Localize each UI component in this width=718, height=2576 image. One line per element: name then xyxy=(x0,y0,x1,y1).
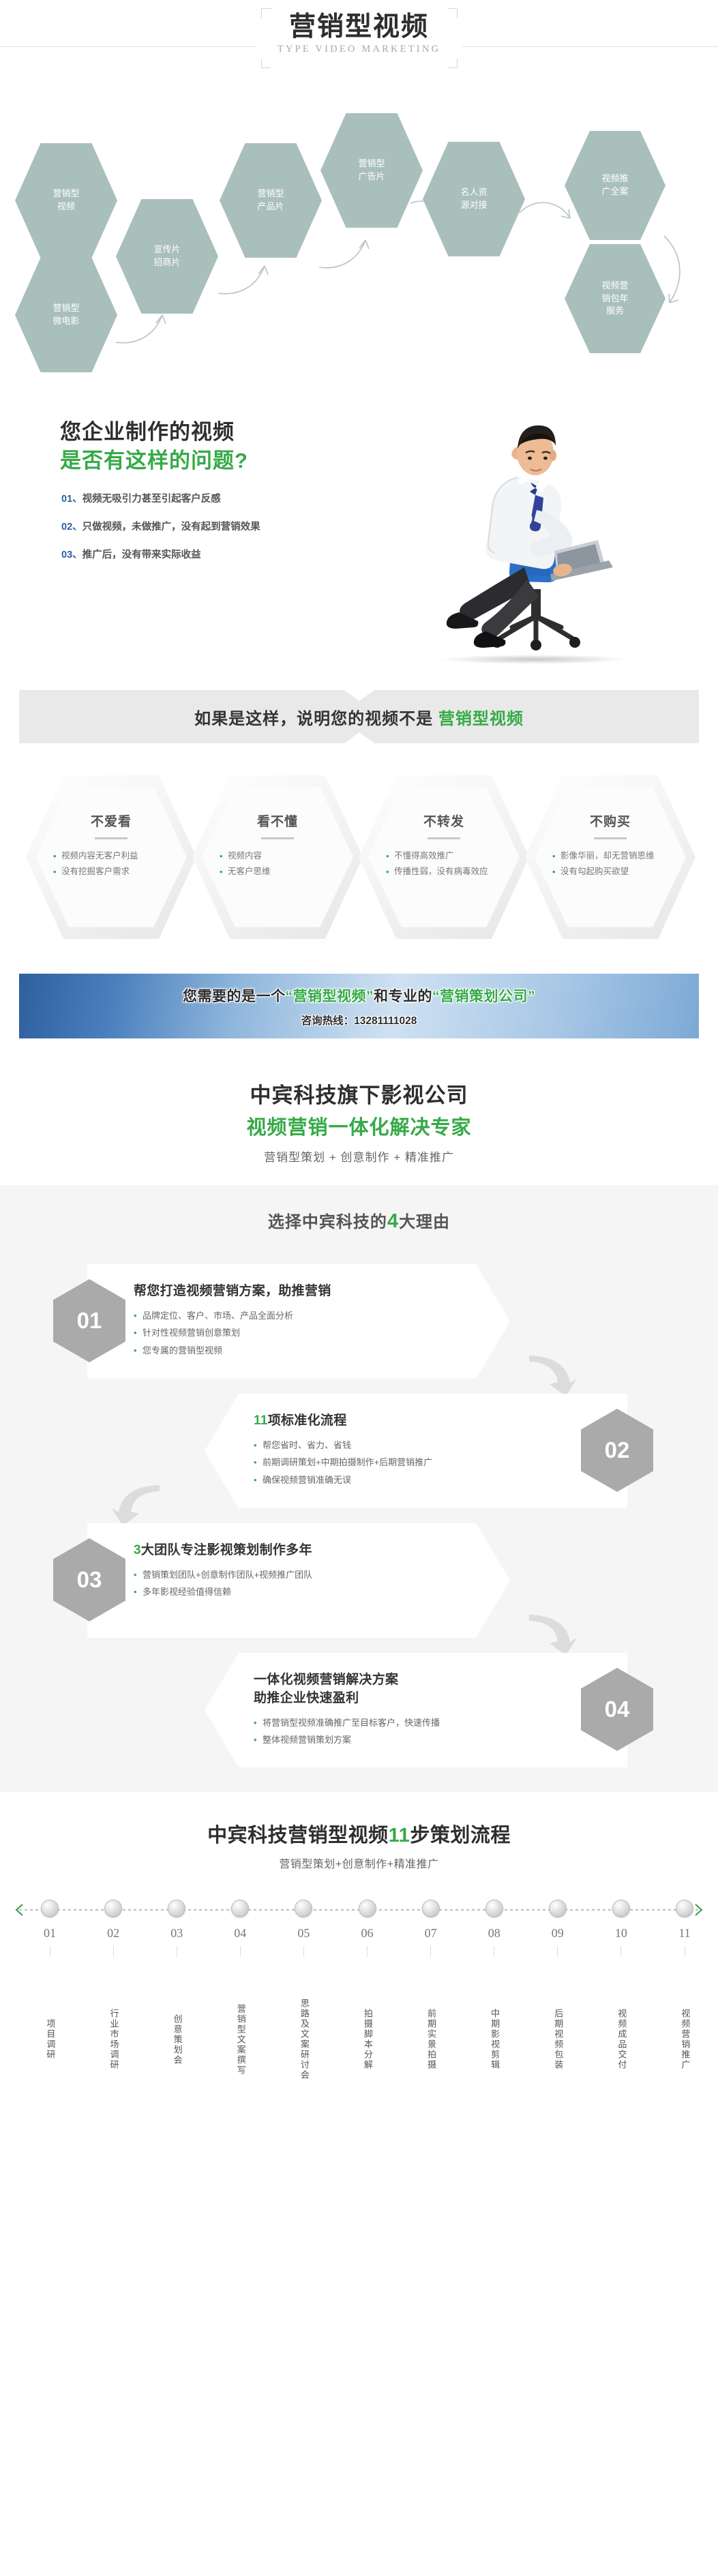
flow-step-tick xyxy=(303,1946,304,1957)
problem-title-line1: 您企业制作的视频 xyxy=(60,415,235,445)
service-hex-3[interactable]: 宣传片 招商片 xyxy=(116,199,218,314)
problem-item-text: 视频无吸引力甚至引起客户反感 xyxy=(83,494,221,505)
service-hex-5[interactable]: 营销型 广告片 xyxy=(320,113,423,228)
reason-content-04: 一体化视频营销解决方案 助推企业快速盈利将营销型视频准确推广至目标客户，快速传播… xyxy=(254,1669,540,1749)
flow-step-node xyxy=(549,1900,567,1917)
flow-step-11[interactable]: 11视频营销推广 xyxy=(658,1894,711,2118)
flow-step-number: 03 xyxy=(150,1926,203,1941)
problem-card-point: 视频内容 xyxy=(220,848,363,864)
problem-card-divider xyxy=(261,837,294,839)
reason-title: 一体化视频营销解决方案 助推企业快速盈利 xyxy=(254,1669,540,1706)
flow-step-number: 08 xyxy=(468,1926,521,1941)
reasons-list: 01帮您打造视频营销方案，助推营销品牌定位、客户、市场、产品全面分析针对性视频营… xyxy=(0,1256,718,1761)
problem-card-divider xyxy=(428,837,460,839)
verdict-band-section: 如果是这样，说明您的视频不是 营销型视频 xyxy=(0,675,718,762)
reason-point: 将营销型视频准确推广至目标客户，快速传播 xyxy=(254,1714,540,1731)
reason-title-text: 大团队专注影视策划制作多年 xyxy=(141,1543,312,1557)
flow-heading: 中宾科技营销型视频11步策划流程 xyxy=(0,1819,718,1848)
verdict-prefix: 如果是这样，说明您的视频不是 xyxy=(194,710,438,728)
reason-points: 品牌定位、客户、市场、产品全面分析针对性视频营销创意策划您专属的营销型视频 xyxy=(134,1307,420,1359)
flow-step-number: 02 xyxy=(87,1926,140,1941)
reason-title-text: 一体化视频营销解决方案 助推企业快速盈利 xyxy=(254,1673,398,1705)
reason-title: 帮您打造视频营销方案，助推营销 xyxy=(134,1280,420,1299)
problem-card-body: 不爱看视频内容无客户利益没有挖掘客户需求 xyxy=(26,772,196,942)
problem-card-1[interactable]: 不爱看视频内容无客户利益没有挖掘客户需求 xyxy=(26,772,196,942)
service-hex-label: 营销型 视频 xyxy=(53,188,79,213)
service-hex-label: 营销型 广告片 xyxy=(358,158,385,183)
flow-step-label: 中期影视剪辑 xyxy=(488,1961,500,2118)
cta-headline: 您需要的是一个“营销型视频”和专业的“营销策划公司” xyxy=(183,985,535,1006)
service-hex-cluster: 营销型 视频营销型 微电影宣传片 招商片营销型 产品片营销型 广告片名人资 源对… xyxy=(0,102,718,389)
reason-number: 03 xyxy=(77,1567,102,1593)
problem-card-title: 不购买 xyxy=(525,811,695,830)
cta-part1: 您需要的是一个 xyxy=(183,989,286,1004)
flow-step-tick xyxy=(367,1946,368,1957)
reasons-heading-prefix: 选择中宾科技的 xyxy=(268,1213,387,1231)
flow-step-tick xyxy=(685,1946,685,1957)
reason-content-01: 帮您打造视频营销方案，助推营销品牌定位、客户、市场、产品全面分析针对性视频营销创… xyxy=(134,1280,420,1359)
verdict-highlight: 营销型视频 xyxy=(438,710,524,728)
problem-card-4[interactable]: 不购买影像华丽，却无营销思维没有勾起购买欲望 xyxy=(525,772,695,942)
service-hex-label: 视频推 广全案 xyxy=(601,173,628,198)
problem-list: 01、视频无吸引力甚至引起客户反感02、只做视频，未做推广，没有起到营销效果03… xyxy=(61,491,260,575)
problem-card-body: 看不懂视频内容无客户思维 xyxy=(192,772,363,942)
flow-step-node xyxy=(41,1900,59,1917)
reasons-section: 选择中宾科技的4大理由 01帮您打造视频营销方案，助推营销品牌定位、客户、市场、… xyxy=(0,1185,718,1792)
reason-points: 将营销型视频准确推广至目标客户，快速传播整体视频营销策划方案 xyxy=(254,1714,540,1749)
flow-step-number: 07 xyxy=(404,1926,458,1941)
service-hex-label: 营销型 产品片 xyxy=(257,188,284,213)
flow-arrow-2 xyxy=(217,258,278,299)
problem-card-divider xyxy=(594,837,627,839)
flow-arrow-5 xyxy=(518,198,580,235)
reason-row-04: 04一体化视频营销解决方案 助推企业快速盈利将营销型视频准确推广至目标客户，快速… xyxy=(0,1645,718,1774)
verdict-text: 如果是这样，说明您的视频不是 营销型视频 xyxy=(194,705,524,729)
flow-step-label: 视频营销推广 xyxy=(678,1961,691,2118)
cta-section: 您需要的是一个“营销型视频”和专业的“营销策划公司” 咨询热线：13281111… xyxy=(0,967,718,1055)
flow-step-07[interactable]: 07前期实景拍摄 xyxy=(404,1894,458,2118)
problem-item-3: 03、推广后，没有带来实际收益 xyxy=(61,547,260,561)
reason-point: 您专属的营销型视频 xyxy=(134,1342,420,1359)
reason-title-number: 11 xyxy=(254,1413,268,1428)
reason-points: 帮您省时、省力、省钱前期调研策划+中期拍摄制作+后期营销推广确保视频营销准确无误 xyxy=(254,1437,540,1488)
flow-heading-number: 11 xyxy=(389,1825,410,1846)
service-hex-label: 视频营 销包年 服务 xyxy=(601,280,628,318)
cta-quote2: “营销策划公司” xyxy=(432,989,535,1004)
flow-arrow-6 xyxy=(660,232,701,314)
problem-card-body: 不转发不懂得高效推广传播性弱，没有病毒效应 xyxy=(359,772,529,942)
header-title-frame: 营销型视频 TYPE VIDEO MARKETING xyxy=(257,7,462,75)
reason-point: 多年影视经验值得信赖 xyxy=(134,1583,420,1600)
flow-step-tick xyxy=(557,1946,558,1957)
flow-step-label: 思路及文案研讨会 xyxy=(297,1961,310,2118)
problem-item-text: 只做视频，未做推广，没有起到营销效果 xyxy=(83,522,260,533)
flow-track: 01项目调研02行业市场调研03创意策划会04营销型文案撰写05思路及文案研讨会… xyxy=(15,1894,703,2187)
service-hex-label: 名人资 源对接 xyxy=(460,186,487,212)
flow-step-number: 01 xyxy=(23,1926,76,1941)
reason-title-text: 项标准化流程 xyxy=(268,1413,347,1428)
reason-point: 确保视频营销准确无误 xyxy=(254,1471,540,1488)
flow-step-09[interactable]: 09后期视频包装 xyxy=(531,1894,584,2118)
cta-part2: 和专业的 xyxy=(374,989,432,1004)
flow-step-label: 行业市场调研 xyxy=(107,1961,120,2118)
reason-point: 帮您省时、省力、省钱 xyxy=(254,1437,540,1454)
company-name: 中宾科技旗下影视公司 xyxy=(0,1078,718,1109)
flow-step-tick xyxy=(430,1946,431,1957)
flow-step-label: 项目调研 xyxy=(44,1961,57,2118)
problem-title-line2: 是否有这样的问题? xyxy=(60,443,248,474)
flow-step-label: 营销型文案撰写 xyxy=(234,1961,247,2118)
problem-card-point: 不懂得高效推广 xyxy=(386,848,529,864)
flow-step-01[interactable]: 01项目调研 xyxy=(23,1894,76,2118)
problem-item-2: 02、只做视频，未做推广，没有起到营销效果 xyxy=(61,519,260,533)
flow-subheading: 营销型策划+创意制作+精准推广 xyxy=(0,1855,718,1871)
problem-item-number: 03、 xyxy=(61,550,83,560)
cta-hotline[interactable]: 咨询热线：13281111028 xyxy=(301,1013,417,1028)
flow-step-02[interactable]: 02行业市场调研 xyxy=(87,1894,140,2118)
reason-point: 品牌定位、客户、市场、产品全面分析 xyxy=(134,1307,420,1324)
flow-step-tick xyxy=(240,1946,241,1957)
problem-card-points: 影像华丽，却无营销思维没有勾起购买欲望 xyxy=(525,848,695,879)
flow-step-node xyxy=(168,1900,185,1917)
problem-card-point: 视频内容无客户利益 xyxy=(53,848,196,864)
reason-number: 02 xyxy=(605,1437,630,1463)
landing-page: 营销型视频 TYPE VIDEO MARKETING 营销型 视频营销型 微电影… xyxy=(0,0,718,2215)
problem-card-points: 视频内容无客户思维 xyxy=(192,848,363,879)
service-hex-2[interactable]: 营销型 微电影 xyxy=(15,258,117,372)
service-hex-7[interactable]: 视频推 广全案 xyxy=(565,131,665,240)
problem-card-points: 不懂得高效推广传播性弱，没有病毒效应 xyxy=(359,848,529,879)
flow-step-label: 前期实景拍摄 xyxy=(424,1961,437,2118)
company-services: 营销型策划 + 创意制作 + 精准推广 xyxy=(0,1148,718,1165)
flow-step-number: 11 xyxy=(658,1926,711,1941)
cta-banner[interactable]: 您需要的是一个“营销型视频”和专业的“营销策划公司” 咨询热线：13281111… xyxy=(19,974,699,1038)
reasons-heading-number: 4 xyxy=(387,1210,399,1232)
flow-heading-post: 步策划流程 xyxy=(410,1825,511,1846)
flow-step-label: 后期视频包装 xyxy=(551,1961,564,2118)
flow-step-label: 视频成品交付 xyxy=(614,1961,627,2118)
flow-step-number: 04 xyxy=(213,1926,267,1941)
flow-step-tick xyxy=(113,1946,114,1957)
verdict-band: 如果是这样，说明您的视频不是 营销型视频 xyxy=(19,690,699,743)
flow-step-tick xyxy=(494,1946,494,1957)
reasons-heading: 选择中宾科技的4大理由 xyxy=(0,1208,718,1233)
flow-step-tick xyxy=(177,1946,177,1957)
reason-number: 01 xyxy=(77,1308,102,1334)
flow-step-node xyxy=(676,1900,693,1917)
flow-arrow-3 xyxy=(318,232,379,273)
flow-step-08[interactable]: 08中期影视剪辑 xyxy=(468,1894,521,2118)
businessman-illustration xyxy=(391,395,677,668)
problem-card-point: 传播性弱，没有病毒效应 xyxy=(386,864,529,880)
service-hex-8[interactable]: 视频营 销包年 服务 xyxy=(565,244,665,353)
page-header: 营销型视频 TYPE VIDEO MARKETING xyxy=(0,0,718,102)
page-subtitle: TYPE VIDEO MARKETING xyxy=(257,44,462,55)
reason-point: 前期调研策划+中期拍摄制作+后期营销推广 xyxy=(254,1454,540,1471)
flow-step-node xyxy=(422,1900,440,1917)
flow-step-node xyxy=(359,1900,376,1917)
flow-step-node xyxy=(485,1900,503,1917)
flow-step-label: 拍摄脚本分解 xyxy=(361,1961,374,2118)
flow-step-03[interactable]: 03创意策划会 xyxy=(150,1894,203,2118)
flow-step-label: 创意策划会 xyxy=(170,1961,183,2118)
flow-step-tick xyxy=(50,1946,50,1957)
problem-card-title: 不转发 xyxy=(359,811,529,830)
problem-card-point: 没有勾起购买欲望 xyxy=(552,864,695,880)
problem-cards-section: 不爱看视频内容无客户利益没有挖掘客户需求看不懂视频内容无客户思维不转发不懂得高效… xyxy=(0,762,718,967)
problem-card-divider xyxy=(95,837,128,839)
reason-row-01: 01帮您打造视频营销方案，助推营销品牌定位、客户、市场、产品全面分析针对性视频营… xyxy=(0,1256,718,1386)
reason-point: 针对性视频营销创意策划 xyxy=(134,1324,420,1341)
problem-card-3[interactable]: 不转发不懂得高效推广传播性弱，没有病毒效应 xyxy=(359,772,529,942)
flow-step-node xyxy=(295,1900,312,1917)
cta-quote1: “营销型视频” xyxy=(286,989,374,1004)
service-hex-4[interactable]: 营销型 产品片 xyxy=(220,143,322,258)
reason-title-text: 帮您打造视频营销方案，助推营销 xyxy=(134,1284,331,1298)
reason-point: 营销策划团队+创意制作团队+视频推广团队 xyxy=(134,1566,420,1583)
reason-content-02: 11项标准化流程帮您省时、省力、省钱前期调研策划+中期拍摄制作+后期营销推广确保… xyxy=(254,1410,540,1488)
reason-row-02: 0211项标准化流程帮您省时、省力、省钱前期调研策划+中期拍摄制作+后期营销推广… xyxy=(0,1386,718,1515)
company-slogan: 视频营销一体化解决专家 xyxy=(0,1111,718,1140)
service-hex-1[interactable]: 营销型 视频 xyxy=(15,143,117,258)
reason-title-number: 3 xyxy=(134,1543,141,1557)
flow-step-06[interactable]: 06拍摄脚本分解 xyxy=(341,1894,394,2118)
reasons-heading-suffix: 大理由 xyxy=(399,1213,450,1231)
service-hex-label: 宣传片 招商片 xyxy=(153,243,180,269)
page-title: 营销型视频 xyxy=(257,12,462,43)
reason-title: 3大团队专注影视策划制作多年 xyxy=(134,1540,420,1558)
flow-step-number: 06 xyxy=(341,1926,394,1941)
reason-point: 整体视频营销策划方案 xyxy=(254,1731,540,1748)
reason-points: 营销策划团队+创意制作团队+视频推广团队多年影视经验值得信赖 xyxy=(134,1566,420,1601)
problem-card-point: 没有挖掘客户需求 xyxy=(53,864,196,880)
problem-item-1: 01、视频无吸引力甚至引起客户反感 xyxy=(61,491,260,505)
problem-card-2[interactable]: 看不懂视频内容无客户思维 xyxy=(192,772,363,942)
reason-title: 11项标准化流程 xyxy=(254,1410,540,1428)
service-hex-6[interactable]: 名人资 源对接 xyxy=(423,142,525,256)
flow-heading-pre: 中宾科技营销型视频 xyxy=(207,1825,389,1846)
reason-row-03: 033大团队专注影视策划制作多年营销策划团队+创意制作团队+视频推广团队多年影视… xyxy=(0,1515,718,1645)
flow-step-node xyxy=(231,1900,249,1917)
flow-step-node xyxy=(612,1900,630,1917)
problem-item-number: 01、 xyxy=(61,494,83,505)
problem-item-number: 02、 xyxy=(61,522,83,533)
flow-step-node xyxy=(104,1900,122,1917)
service-hex-label: 营销型 微电影 xyxy=(53,302,79,328)
flow-section: 中宾科技营销型视频11步策划流程 营销型策划+创意制作+精准推广 01项目调研0… xyxy=(0,1792,718,2215)
flow-step-number: 09 xyxy=(531,1926,584,1941)
problem-card-body: 不购买影像华丽，却无营销思维没有勾起购买欲望 xyxy=(525,772,695,942)
problem-card-title: 不爱看 xyxy=(26,811,196,830)
problem-card-point: 影像华丽，却无营销思维 xyxy=(552,848,695,864)
reason-number: 04 xyxy=(605,1696,630,1722)
reason-content-03: 3大团队专注影视策划制作多年营销策划团队+创意制作团队+视频推广团队多年影视经验… xyxy=(134,1540,420,1601)
company-section: 中宾科技旗下影视公司 视频营销一体化解决专家 营销型策划 + 创意制作 + 精准… xyxy=(0,1055,718,1185)
flow-step-number: 05 xyxy=(277,1926,330,1941)
flow-step-10[interactable]: 10视频成品交付 xyxy=(595,1894,648,2118)
problem-card-title: 看不懂 xyxy=(192,811,363,830)
problem-section: 您企业制作的视频 是否有这样的问题? 01、视频无吸引力甚至引起客户反感02、只… xyxy=(0,389,718,675)
problem-card-points: 视频内容无客户利益没有挖掘客户需求 xyxy=(26,848,196,879)
problem-card-point: 无客户思维 xyxy=(220,864,363,880)
flow-step-05[interactable]: 05思路及文案研讨会 xyxy=(277,1894,330,2118)
flow-step-number: 10 xyxy=(595,1926,648,1941)
problem-item-text: 推广后，没有带来实际收益 xyxy=(83,550,201,560)
flow-step-04[interactable]: 04营销型文案撰写 xyxy=(213,1894,267,2118)
flow-step-tick xyxy=(620,1946,621,1957)
